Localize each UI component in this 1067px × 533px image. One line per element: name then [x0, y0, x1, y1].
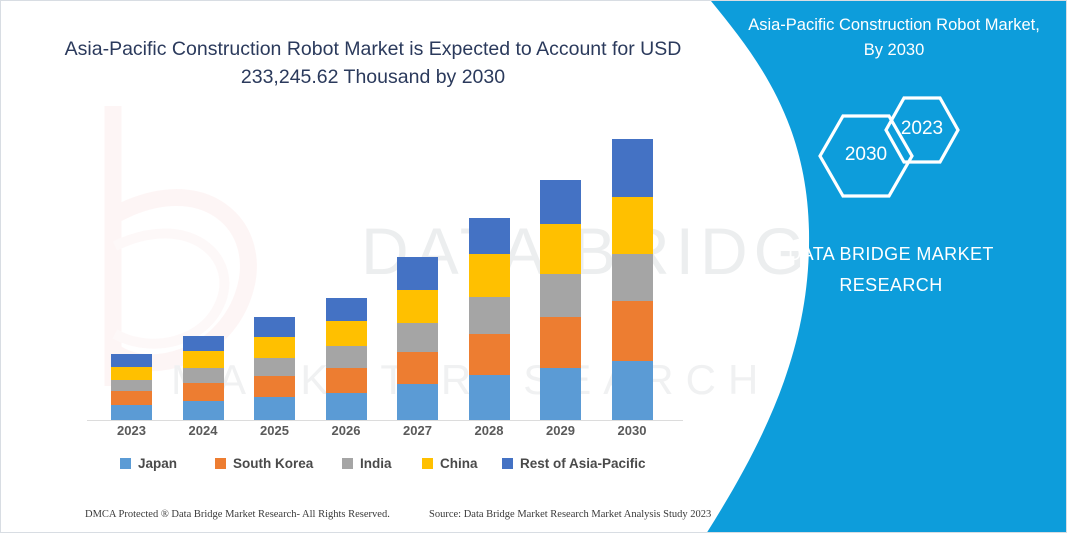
bar-segment: [612, 254, 653, 301]
bar-segment: [612, 197, 653, 254]
footer-source: Source: Data Bridge Market Research Mark…: [429, 509, 711, 520]
bar-segment: [254, 317, 295, 337]
chart-baseline: [87, 420, 683, 421]
footer-copyright: DMCA Protected ® Data Bridge Market Rese…: [85, 509, 390, 520]
bar-segment: [254, 397, 295, 420]
bar-segment: [612, 301, 653, 361]
chart-legend: JapanSouth KoreaIndiaChinaRest of Asia-P…: [87, 456, 687, 478]
legend-label: South Korea: [233, 456, 313, 471]
bar-segment: [254, 358, 295, 376]
brand-panel: Asia-Pacific Construction Robot Market, …: [676, 1, 1066, 533]
bar-2028[interactable]: [469, 218, 510, 420]
bar-segment: [397, 352, 438, 384]
hexagon-group: 2030 2023: [786, 96, 1026, 226]
x-tick-2025: 2025: [245, 423, 305, 438]
x-tick-2029: 2029: [531, 423, 591, 438]
bar-segment: [540, 317, 581, 368]
x-tick-2027: 2027: [388, 423, 448, 438]
bar-segment: [183, 351, 224, 368]
x-tick-2030: 2030: [602, 423, 662, 438]
bar-segment: [469, 254, 510, 297]
legend-swatch-icon: [215, 458, 226, 469]
x-tick-2024: 2024: [173, 423, 233, 438]
legend-swatch-icon: [120, 458, 131, 469]
bar-segment: [469, 334, 510, 375]
legend-item-south-korea[interactable]: South Korea: [215, 456, 313, 471]
legend-label: Japan: [138, 456, 177, 471]
infographic-canvas: DATA BRIDGE MARKET RESEARCH Asia-Pacific…: [0, 0, 1067, 533]
bar-segment: [254, 376, 295, 397]
bar-segment: [612, 361, 653, 420]
brand-name: DATA BRIDGE MARKET RESEARCH: [741, 239, 1041, 301]
page-title: Asia-Pacific Construction Robot Market i…: [63, 35, 683, 91]
bar-segment: [183, 336, 224, 351]
bar-segment: [397, 384, 438, 420]
bar-segment: [612, 139, 653, 197]
bar-2024[interactable]: [183, 336, 224, 420]
bar-segment: [397, 323, 438, 352]
bar-segment: [183, 383, 224, 401]
legend-label: Rest of Asia-Pacific: [520, 456, 646, 471]
bar-segment: [469, 375, 510, 420]
bar-segment: [397, 257, 438, 290]
bar-2025[interactable]: [254, 317, 295, 420]
legend-label: China: [440, 456, 478, 471]
bar-segment: [111, 354, 152, 367]
bar-segment: [540, 274, 581, 317]
bar-segment: [254, 337, 295, 358]
bar-segment: [540, 368, 581, 420]
footer: DMCA Protected ® Data Bridge Market Rese…: [85, 509, 685, 525]
bar-segment: [326, 368, 367, 393]
bar-segment: [111, 405, 152, 420]
bar-segment: [111, 380, 152, 391]
legend-swatch-icon: [422, 458, 433, 469]
legend-item-rest-of-asia-pacific[interactable]: Rest of Asia-Pacific: [502, 456, 646, 471]
bar-2030[interactable]: [612, 139, 653, 420]
bar-segment: [326, 298, 367, 321]
legend-item-china[interactable]: China: [422, 456, 478, 471]
x-tick-2026: 2026: [316, 423, 376, 438]
x-tick-2028: 2028: [459, 423, 519, 438]
hexagon-label-2023: 2023: [896, 118, 948, 140]
bar-segment: [326, 346, 367, 368]
bar-segment: [326, 393, 367, 420]
stacked-bar-chart: [87, 111, 687, 421]
bar-2027[interactable]: [397, 257, 438, 420]
bar-2029[interactable]: [540, 180, 581, 420]
panel-title: Asia-Pacific Construction Robot Market, …: [744, 13, 1044, 63]
bar-segment: [469, 297, 510, 334]
bar-segment: [469, 218, 510, 254]
legend-item-japan[interactable]: Japan: [120, 456, 177, 471]
bar-2023[interactable]: [111, 354, 152, 420]
legend-swatch-icon: [502, 458, 513, 469]
bar-segment: [183, 368, 224, 383]
bar-segment: [111, 367, 152, 380]
brand-line-1: DATA BRIDGE MARKET: [788, 244, 994, 264]
bar-segment: [111, 391, 152, 405]
bar-segment: [540, 180, 581, 224]
legend-label: India: [360, 456, 392, 471]
bar-segment: [183, 401, 224, 420]
bar-segment: [540, 224, 581, 274]
hexagon-shapes-icon: [786, 96, 1026, 226]
x-tick-2023: 2023: [102, 423, 162, 438]
legend-item-india[interactable]: India: [342, 456, 392, 471]
brand-line-2: RESEARCH: [839, 275, 942, 295]
bar-segment: [397, 290, 438, 323]
bar-segment: [326, 321, 367, 346]
chart-x-axis: 20232024202520262027202820292030: [87, 423, 687, 445]
legend-swatch-icon: [342, 458, 353, 469]
bar-2026[interactable]: [326, 298, 367, 420]
hexagon-label-2030: 2030: [834, 144, 898, 166]
